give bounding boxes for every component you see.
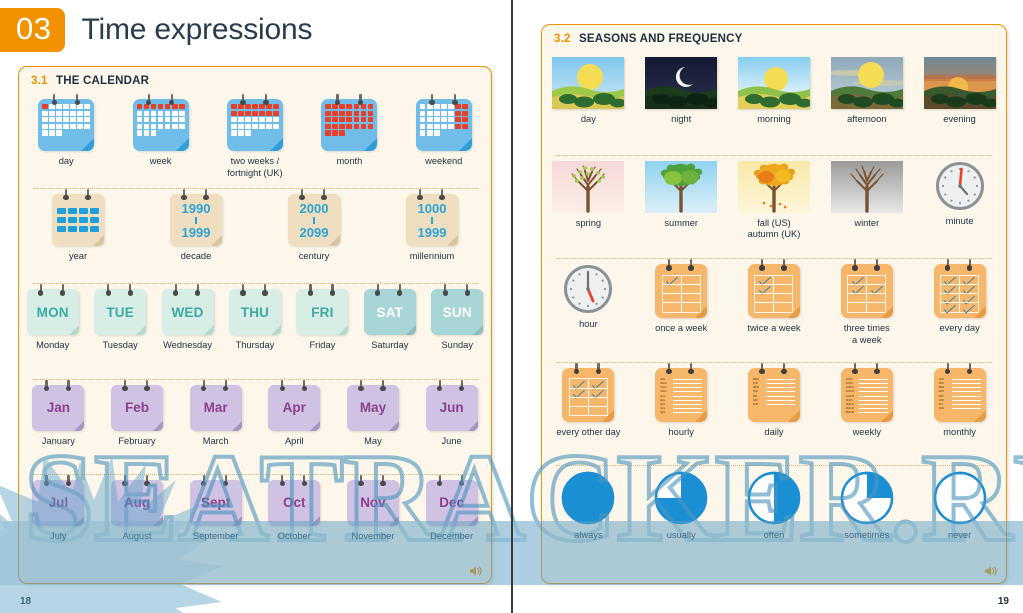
summer-tree-icon — [645, 161, 717, 213]
month-card-icon: Dec — [426, 480, 478, 526]
agenda-line-label: FEB 5 — [846, 399, 857, 402]
weekday-card-icon: SAT — [364, 289, 416, 335]
month-card-icon: Sept — [190, 480, 242, 526]
pie-chart-icon — [561, 471, 615, 525]
agenda-line-label: FEB 19 — [846, 407, 857, 410]
item-day[interactable]: day — [544, 57, 632, 126]
weekday-card-icon: WED — [162, 289, 214, 335]
month-short: Oct — [283, 495, 306, 510]
month-card-icon: Mar — [190, 385, 242, 431]
item-weekday-tuesday[interactable]: TUETuesday — [89, 289, 151, 352]
item-sometimes[interactable]: sometimes — [823, 471, 911, 542]
range-note-icon: 2000 2099 — [288, 194, 340, 246]
item-weekday-thursday[interactable]: THUThursday — [224, 289, 286, 352]
item-label: summer — [664, 218, 698, 230]
month-short: Jul — [49, 495, 69, 510]
item-label: February — [118, 436, 155, 448]
item-weekday-friday[interactable]: FRIFriday — [291, 289, 353, 352]
agenda-line-label: AUG — [939, 407, 950, 410]
agenda-line-label: JAN 22 — [846, 390, 857, 393]
month-short: Feb — [125, 400, 149, 415]
item-label: fall (US)autumn (UK) — [748, 218, 801, 241]
item-label: sometimes — [844, 530, 889, 542]
weekday-card-icon: MON — [27, 289, 79, 335]
agenda-line-label: JAN 8 — [846, 382, 857, 385]
item-day[interactable]: day — [22, 99, 110, 168]
item-label: once a week — [655, 323, 707, 335]
agenda-line-label: 5pm — [660, 411, 671, 414]
weekday-short: THU — [241, 305, 269, 320]
agenda-line-label: TUE — [753, 382, 764, 385]
item-fortnight[interactable]: two weeks /fortnight (UK) — [211, 99, 299, 179]
item-month-january[interactable]: JanJanuary — [23, 385, 93, 448]
item-label: Sunday — [441, 340, 473, 352]
pie-chart-icon — [933, 471, 987, 525]
agenda-pad-icon: JAN 1JAN 8JAN 15JAN 22JAN 29FEB 5FEB 12F… — [841, 368, 893, 422]
item-month-september[interactable]: SeptSeptember — [181, 480, 251, 543]
page-title: Time expressions — [81, 13, 312, 47]
range-bottom: 1999 — [182, 225, 211, 240]
weekday-short: TUE — [106, 305, 134, 320]
winter-tree-icon — [831, 161, 903, 213]
item-label: always — [574, 530, 602, 542]
item-minute[interactable]: minute — [916, 161, 1004, 228]
range-bottom: 1999 — [418, 225, 447, 240]
weekday-short: FRI — [311, 305, 333, 320]
agenda-line-label: WED — [753, 386, 764, 389]
agenda-line-label: SAT — [753, 399, 764, 402]
item-once-a-week[interactable]: once a week — [637, 264, 725, 335]
month-card-icon: Oct — [268, 480, 320, 526]
section-number: 3.1 — [31, 75, 48, 87]
agenda-line-label: APR — [939, 390, 950, 393]
item-month-march[interactable]: MarMarch — [181, 385, 251, 448]
item-always[interactable]: always — [544, 471, 632, 542]
page-number-right: 19 — [998, 596, 1009, 607]
item-month-may[interactable]: MayMay — [338, 385, 408, 448]
row-times-of-day: daynightmorningafternoonevening — [542, 51, 1006, 155]
clock-hour-icon — [563, 264, 613, 314]
weekday-short: SAT — [377, 305, 404, 320]
item-month-august[interactable]: AugAugust — [102, 480, 172, 543]
agenda-line-label: 2pm — [660, 399, 671, 402]
item-month-december[interactable]: DecDecember — [417, 480, 487, 543]
item-label: morning — [757, 114, 791, 126]
item-twice-a-week[interactable]: twice a week — [730, 264, 818, 335]
item-label: monthly — [943, 427, 976, 439]
section-number: 3.2 — [554, 33, 571, 45]
agenda-line-label: JAN — [939, 378, 950, 381]
row-weekdays: MONMondayTUETuesdayWEDWednesdayTHUThursd… — [19, 283, 491, 378]
agenda-line-label: JUL — [939, 403, 950, 406]
agenda-pad-icon: MONTUEWEDTHUFRISATSUN — [748, 368, 800, 422]
autumn-tree-icon — [738, 161, 810, 213]
month-card-icon: Apr — [268, 385, 320, 431]
agenda-line-label: 10am — [660, 382, 671, 385]
month-card-icon: May — [347, 385, 399, 431]
item-weekday-saturday[interactable]: SATSaturday — [359, 289, 421, 352]
day-scene-icon — [552, 57, 624, 109]
agenda-line-label: JAN 1 — [846, 378, 857, 381]
item-label: two weeks /fortnight (UK) — [227, 156, 282, 179]
item-never[interactable]: never — [916, 471, 1004, 542]
item-label: July — [50, 531, 67, 543]
item-night[interactable]: night — [637, 57, 725, 126]
checklist-pad-icon — [748, 264, 800, 318]
agenda-line-label: 12am — [660, 390, 671, 393]
calendar-icon — [227, 99, 283, 151]
agenda-line-label: 9am — [660, 378, 671, 381]
row-months-second: JulJulyAugAugustSeptSeptemberOctOctoberN… — [19, 474, 491, 569]
item-label: twice a week — [747, 323, 800, 335]
agenda-line-label: 11am — [660, 386, 671, 389]
checklist-pad-icon — [841, 264, 893, 318]
pie-chart-icon — [840, 471, 894, 525]
agenda-line-label: SUN — [753, 403, 764, 406]
item-century[interactable]: 2000 2099 century — [270, 194, 358, 263]
month-short: Aug — [124, 495, 150, 510]
item-spring[interactable]: spring — [544, 161, 632, 230]
item-often[interactable]: often — [730, 471, 818, 542]
month-card-icon: Feb — [111, 385, 163, 431]
seasons-rows: daynightmorningafternoonevening springsu… — [542, 51, 1006, 569]
agenda-line-label: FEB — [939, 382, 950, 385]
item-weekend[interactable]: weekend — [400, 99, 488, 168]
item-month-june[interactable]: JunJune — [417, 385, 487, 448]
item-month-october[interactable]: OctOctober — [259, 480, 329, 543]
item-label: afternoon — [847, 114, 886, 126]
item-hour[interactable]: hour — [544, 264, 632, 331]
pie-chart-icon — [654, 471, 708, 525]
calendar-panel: 3.1 THE CALENDAR day — [18, 66, 492, 584]
item-label: May — [364, 436, 382, 448]
checklist-pad-icon — [655, 264, 707, 318]
morning-scene-icon — [738, 57, 810, 109]
evening-scene-icon — [924, 57, 996, 109]
item-label: Tuesday — [102, 340, 137, 352]
agenda-line-label: FEB 26 — [846, 411, 857, 414]
item-usually[interactable]: usually — [637, 471, 725, 542]
item-label: weekly — [853, 427, 881, 439]
month-short: May — [360, 400, 386, 415]
item-label: Wednesday — [163, 340, 212, 352]
item-label: hour — [579, 319, 598, 331]
item-monthly[interactable]: JANFEBMARAPRMAYJUNJULAUGmonthly — [916, 368, 1004, 439]
agenda-line-label: JUN — [939, 399, 950, 402]
agenda-line-label: 1pm — [660, 395, 671, 398]
item-winter[interactable]: winter — [823, 161, 911, 230]
item-every-other-day[interactable]: every other day — [544, 368, 632, 439]
item-weekly[interactable]: JAN 1JAN 8JAN 15JAN 22JAN 29FEB 5FEB 12F… — [823, 368, 911, 439]
agenda-line-label: MAR — [939, 386, 950, 389]
item-month[interactable]: month — [305, 99, 393, 168]
month-short: Jan — [47, 400, 70, 415]
month-short: Sept — [201, 495, 230, 510]
item-label: evening — [943, 114, 976, 126]
weekday-short: WED — [171, 305, 203, 320]
weekday-short: SUN — [443, 305, 472, 320]
row-seasons: springsummerfall (US)autumn (UK)wintermi… — [542, 155, 1006, 259]
item-label: week — [150, 156, 172, 168]
item-label: January — [42, 436, 75, 448]
item-month-february[interactable]: FebFebruary — [102, 385, 172, 448]
checklist-pad-icon — [562, 368, 614, 422]
range-note-icon: 1990 1999 — [170, 194, 222, 246]
month-short: Dec — [439, 495, 464, 510]
row-frequency-adverbs: alwaysusuallyoftensometimesnever — [542, 465, 1006, 569]
item-label: weekend — [425, 156, 462, 168]
year-note-icon — [52, 194, 104, 246]
item-label: every other day — [556, 427, 620, 439]
item-label: never — [948, 530, 971, 542]
item-label: April — [285, 436, 304, 448]
left-page: 03 Time expressions 3.1 THE CALENDAR — [0, 0, 512, 613]
item-weekday-wednesday[interactable]: WEDWednesday — [157, 289, 219, 352]
item-label: month — [336, 156, 362, 168]
weekday-card-icon: SUN — [431, 289, 483, 335]
calendar-icon — [38, 99, 94, 151]
clock-minute-icon — [935, 161, 985, 211]
item-weekday-monday[interactable]: MONMonday — [22, 289, 84, 352]
item-daily[interactable]: MONTUEWEDTHUFRISATSUNdaily — [730, 368, 818, 439]
item-label: winter — [854, 218, 879, 230]
range-top: 2000 — [300, 201, 329, 216]
row-calendar-periods: day week — [19, 93, 491, 188]
month-card-icon: Nov — [347, 480, 399, 526]
afternoon-scene-icon — [831, 57, 903, 109]
chapter-number-badge: 03 — [0, 8, 65, 52]
pie-chart-icon — [747, 471, 801, 525]
item-label: Saturday — [371, 340, 408, 352]
range-note-icon: 1000 1999 — [406, 194, 458, 246]
item-label: usually — [667, 530, 696, 542]
item-label: day — [59, 156, 74, 168]
weekday-short: MON — [37, 305, 69, 320]
item-label: daily — [764, 427, 783, 439]
item-morning[interactable]: morning — [730, 57, 818, 126]
weekday-card-icon: FRI — [296, 289, 348, 335]
item-label: Monday — [36, 340, 69, 352]
item-label: March — [203, 436, 229, 448]
range-top: 1990 — [182, 201, 211, 216]
right-page: 3.2 SEASONS AND FREQUENCY daynightmornin… — [512, 0, 1023, 613]
agenda-line-label: 4pm — [660, 407, 671, 410]
calendar-icon — [416, 99, 472, 151]
month-short: Apr — [283, 400, 306, 415]
item-label: December — [430, 531, 473, 543]
range-top: 1000 — [418, 201, 447, 216]
item-summer[interactable]: summer — [637, 161, 725, 230]
month-card-icon: Jan — [32, 385, 84, 431]
section-heading-seasons: 3.2 SEASONS AND FREQUENCY — [554, 33, 743, 45]
book-spine-divider — [511, 0, 513, 613]
calendar-rows: day week — [19, 93, 491, 569]
chapter-header: 03 Time expressions — [0, 9, 312, 51]
item-label: millennium — [410, 251, 454, 263]
month-card-icon: Jul — [32, 480, 84, 526]
spring-tree-icon — [552, 161, 624, 213]
agenda-line-label: MON — [753, 378, 764, 381]
item-afternoon[interactable]: afternoon — [823, 57, 911, 126]
agenda-line-label: JAN 29 — [846, 395, 857, 398]
item-decade[interactable]: 1990 1999 decade — [152, 194, 240, 263]
item-label: every day — [939, 323, 979, 335]
agenda-line-label: FEB 12 — [846, 403, 857, 406]
item-label: three timesa week — [844, 323, 890, 346]
item-month-july[interactable]: JulJuly — [23, 480, 93, 543]
book-spread: 03 Time expressions 3.1 THE CALENDAR — [0, 0, 1023, 613]
checklist-pad-icon — [934, 264, 986, 318]
item-weekday-sunday[interactable]: SUNSunday — [426, 289, 488, 352]
item-label: June — [442, 436, 462, 448]
item-label: August — [123, 531, 152, 543]
month-short: Nov — [360, 495, 386, 510]
agenda-line-label: THU — [753, 390, 764, 393]
agenda-line-label: FRI — [753, 395, 764, 398]
agenda-line-label: JAN 15 — [846, 386, 857, 389]
item-millennium[interactable]: 1000 1999 millennium — [388, 194, 476, 263]
item-label: night — [671, 114, 691, 126]
month-short: Mar — [204, 400, 228, 415]
item-label: Friday — [309, 340, 335, 352]
item-fallus[interactable]: fall (US)autumn (UK) — [730, 161, 818, 241]
page-number-left: 18 — [20, 596, 31, 607]
audio-icon[interactable] — [469, 565, 483, 577]
item-label: day — [581, 114, 596, 126]
row-frequency-schedules: every other day9am10am11am12am1pm2pm3pm4… — [542, 362, 1006, 466]
row-months-first: JanJanuaryFebFebruaryMarMarchAprAprilMay… — [19, 379, 491, 474]
item-label: minute — [946, 216, 974, 228]
night-scene-icon — [645, 57, 717, 109]
item-label: hourly — [669, 427, 694, 439]
item-label: October — [278, 531, 311, 543]
item-hourly[interactable]: 9am10am11am12am1pm2pm3pm4pm5pmhourly — [637, 368, 725, 439]
item-three-times[interactable]: three timesa week — [823, 264, 911, 346]
month-short: Jun — [440, 400, 464, 415]
seasons-panel: 3.2 SEASONS AND FREQUENCY daynightmornin… — [541, 24, 1007, 584]
audio-icon[interactable] — [984, 565, 998, 577]
item-week[interactable]: week — [117, 99, 205, 168]
agenda-pad-icon: JANFEBMARAPRMAYJUNJULAUG — [934, 368, 986, 422]
month-card-icon: Jun — [426, 385, 478, 431]
calendar-icon — [321, 99, 377, 151]
row-calendar-spans: year 1990 1999 decade — [19, 188, 491, 283]
agenda-pad-icon: 9am10am11am12am1pm2pm3pm4pm5pm — [655, 368, 707, 422]
item-label: often — [764, 530, 785, 542]
item-year[interactable]: year — [34, 194, 122, 263]
item-month-november[interactable]: NovNovember — [338, 480, 408, 543]
item-label: year — [69, 251, 87, 263]
row-frequency-week: houronce a weektwice a weekthree timesa … — [542, 258, 1006, 362]
calendar-icon — [133, 99, 189, 151]
weekday-card-icon: TUE — [94, 289, 146, 335]
section-title: THE CALENDAR — [56, 75, 149, 87]
item-label: spring — [576, 218, 601, 230]
item-label: Thursday — [236, 340, 275, 352]
item-month-april[interactable]: AprApril — [259, 385, 329, 448]
agenda-line-label: 3pm — [660, 403, 671, 406]
agenda-line-label: MAY — [939, 395, 950, 398]
item-label: decade — [181, 251, 212, 263]
range-bottom: 2099 — [300, 225, 329, 240]
section-title: SEASONS AND FREQUENCY — [579, 33, 743, 45]
section-heading-calendar: 3.1 THE CALENDAR — [31, 75, 149, 87]
weekday-card-icon: THU — [229, 289, 281, 335]
month-card-icon: Aug — [111, 480, 163, 526]
item-label: century — [299, 251, 330, 263]
item-label: September — [193, 531, 238, 543]
item-every-day[interactable]: every day — [916, 264, 1004, 335]
item-label: November — [352, 531, 395, 543]
item-evening[interactable]: evening — [916, 57, 1004, 126]
